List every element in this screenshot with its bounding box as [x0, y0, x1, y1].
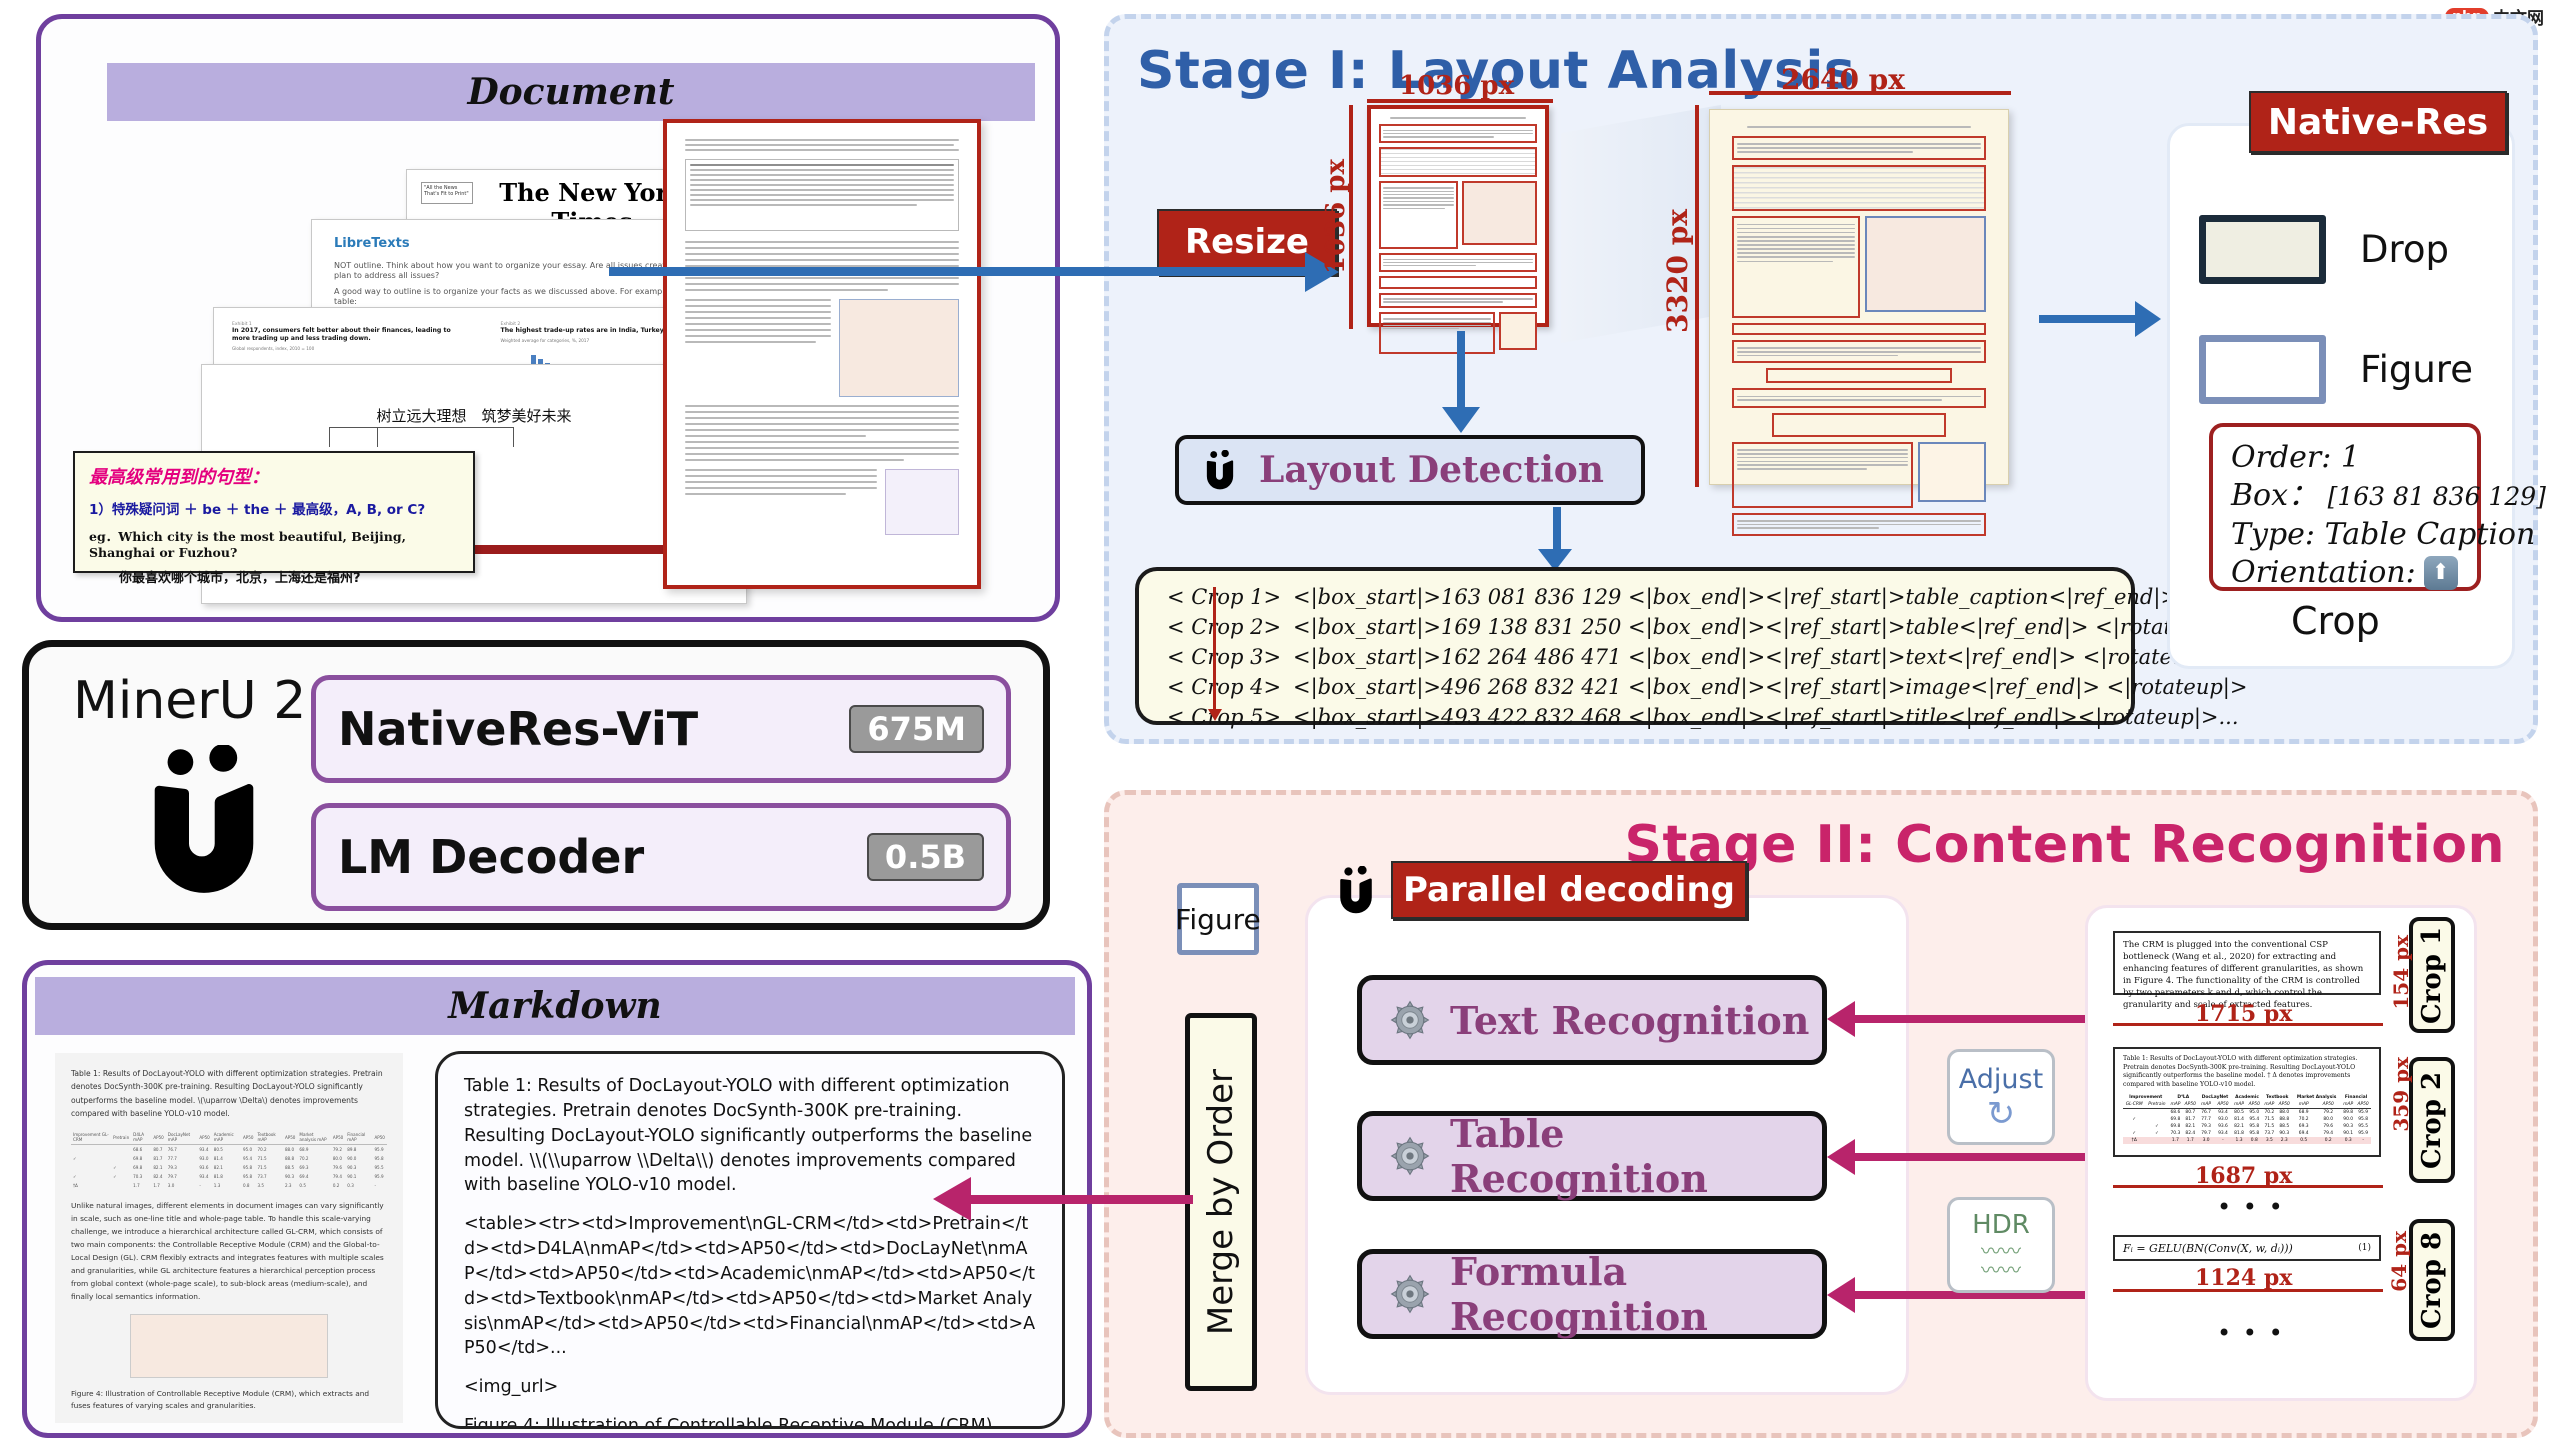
mineru-smiley-u-icon [1199, 450, 1241, 490]
component-label-vit: NativeRes-ViT [338, 702, 698, 756]
doc-thumb-paper-red [663, 119, 981, 589]
task-table-recognition[interactable]: Table Recognition [1357, 1111, 1827, 1201]
model-panel: MinerU 2.5 NativeRes-ViT 675M LM Decoder… [22, 640, 1050, 930]
component-pill-decoder: LM Decoder 0.5B [311, 803, 1011, 911]
merge-by-order-label: Merge by Order [1201, 1069, 1241, 1335]
markdown-source-line-2: <img_url> [464, 1375, 1036, 1400]
crop-8-formula-number: (1) [2358, 1243, 2371, 1253]
document-panel: Document "All the News That's Fit to Pri… [36, 14, 1060, 622]
markdown-title-bar: Markdown [35, 977, 1075, 1035]
doc-thumb-chinese-card: 最高级常用到的句型： 1）特殊疑问词 ＋ be ＋ the ＋ 最高级，A, B… [73, 451, 475, 573]
crop-order-arrow [1213, 587, 1216, 713]
waves-icon: 〰〰〰〰 [1981, 1242, 2021, 1280]
markdown-source-line-1: <table><tr><td>Improvement\nGL-CRM</td><… [464, 1212, 1036, 1361]
native-res-badge: Native-Res [2249, 91, 2507, 153]
arrow-resize-to-detect [1457, 331, 1465, 413]
mineru-smiley-u-icon [139, 745, 269, 895]
crop-order-arrow-head [1208, 709, 1222, 721]
stage1-panel: Stage I: Layout Analysis Resize [1104, 14, 2538, 744]
crop-tag-2: Crop 2 [2409, 1057, 2455, 1183]
arrow-resize-to-detect-head [1442, 407, 1480, 433]
chinese-card-line1: 1）特殊疑问词 ＋ be ＋ the ＋ 最高级，A, B, or C? [89, 498, 459, 518]
crop-1-width-dim-line [2113, 1023, 2383, 1026]
tool-adjust[interactable]: Adjust ↻ [1947, 1049, 2055, 1145]
crop-1-height: 154 px [2389, 935, 2413, 1010]
component-pill-vit: NativeRes-ViT 675M [311, 675, 1011, 783]
gear-icon [1388, 1134, 1432, 1178]
legend-figure: Figure [2199, 335, 2473, 404]
rendered-figure-caption: Figure 4: Illustration of Controllable R… [71, 1388, 387, 1413]
merge-by-order-bar: Merge by Order [1185, 1013, 1257, 1391]
gear-icon [1388, 1272, 1432, 1316]
arrow-crop1-to-text-head [1827, 1001, 1855, 1037]
crop-name-3: < Crop 3> [1167, 645, 1267, 669]
resized-height-dim-line [1349, 105, 1353, 329]
task-formula-recognition-label: Formula Recognition [1450, 1249, 1822, 1339]
layout-detection-button[interactable]: Layout Detection [1175, 435, 1645, 505]
rendered-heading: 4.1 CONTROLLABLE RECEPTIVE MODULE [71, 1421, 387, 1423]
document-panel-title: Document [467, 71, 674, 113]
crop-box-label: Box： [2231, 478, 2318, 513]
layout-detection-label: Layout Detection [1259, 449, 1604, 491]
crop-2-caption: Table 1: Results of DocLayout-YOLO with … [2123, 1055, 2371, 1090]
crop-2-height: 359 px [2389, 1057, 2413, 1132]
native-height-dim-line [1695, 105, 1699, 487]
crop-tokens-card: < Crop 1> <|box_start|>163 081 836 129 <… [1135, 567, 2135, 725]
tool-hdr[interactable]: HDR 〰〰〰〰 [1947, 1197, 2055, 1293]
native-width-dim-line [1709, 91, 2011, 95]
crop-tag-1: Crop 1 [2409, 917, 2455, 1033]
native-page-thumb [1709, 109, 2009, 485]
crop-2-table: ImprovementD⁴LADocLayNetAcademicTextbook… [2123, 1094, 2371, 1144]
arrow-native-to-card [2039, 315, 2139, 323]
chinese-card-line3: 你最喜欢哪个城市，北京，上海还是福州? [89, 567, 459, 586]
crop-order-value: 1 [2341, 440, 2360, 475]
tool-adjust-label: Adjust [1959, 1064, 2043, 1095]
crop-ellipsis-2: • • • [2217, 1319, 2285, 1347]
markdown-source-line-3: Figure 4: Illustration of Controllable R… [464, 1414, 1036, 1429]
figure-chip: Figure [1177, 883, 1259, 955]
chart-left-title: In 2017, consumers felt better about the… [232, 327, 471, 343]
chinese-card-title: 最高级常用到的句型： [89, 463, 459, 489]
crop-tokens-2: <|box_start|>169 138 831 250 <|box_end|>… [1293, 615, 2236, 639]
crop-8-height: 64 px [2387, 1231, 2411, 1292]
crop-tokens-3: <|box_start|>162 264 486 471 <|box_end|>… [1293, 645, 2224, 669]
arrow-merge-to-markdown [969, 1195, 1193, 1204]
stage2-panel: Stage II: Content Recognition Figure Mer… [1104, 790, 2538, 1438]
gear-icon [1388, 998, 1432, 1042]
crop-type-label: Type: [2231, 517, 2315, 552]
legend-drop: Drop [2199, 215, 2449, 284]
mineru-smiley-u-icon [1333, 866, 1379, 914]
crop-8-width: 1124 px [2195, 1265, 2292, 1291]
task-formula-recognition[interactable]: Formula Recognition [1357, 1249, 1827, 1339]
arrow-crop2-to-table-head [1827, 1139, 1855, 1175]
parallel-decoding-badge: Parallel decoding [1333, 861, 1747, 919]
parallel-decoding-label: Parallel decoding [1391, 861, 1747, 919]
resized-width-dim-line [1367, 99, 1553, 103]
markdown-rendered-preview: Table 1: Results of DocLayout-YOLO with … [55, 1053, 403, 1423]
crop-8-width-dim-line [2113, 1289, 2383, 1292]
crop-name-1: < Crop 1> [1167, 585, 1267, 609]
markdown-panel: Markdown Table 1: Results of DocLayout-Y… [22, 960, 1092, 1438]
arrow-merge-to-markdown-head [933, 1177, 971, 1221]
resized-page-thumb [1367, 105, 1549, 327]
task-table-recognition-label: Table Recognition [1450, 1111, 1822, 1201]
chinese-card-line2: eg．Which city is the most beautiful, Bei… [89, 526, 459, 560]
crop-type-value: Table Caption [2325, 517, 2536, 552]
rendered-para: Unlike natural images, different element… [71, 1200, 387, 1304]
markdown-source-card: Table 1: Results of DocLayout-YOLO with … [435, 1051, 1065, 1429]
rendered-table: Improvement GL-CRMPretrainD4LA mAPAP50Do… [71, 1130, 387, 1190]
component-size-decoder: 0.5B [867, 833, 984, 881]
figure-box-swatch [2199, 335, 2326, 404]
task-text-recognition[interactable]: Text Recognition [1357, 975, 1827, 1065]
arrow-native-to-card-head [2135, 301, 2161, 337]
task-text-recognition-label: Text Recognition [1450, 998, 1809, 1043]
crop-2-width-dim-line [2113, 1185, 2383, 1188]
crop-box-value: [163 81 836 129] [2328, 482, 2546, 511]
arrow-crop2-to-table [1853, 1153, 2113, 1161]
nyt-kicker: "All the News That's Fit to Print" [421, 182, 473, 204]
rendered-caption: Table 1: Results of DocLayout-YOLO with … [71, 1067, 387, 1120]
crop-caption: Crop [2291, 599, 2380, 643]
arrow-doc-to-resize [609, 267, 1309, 276]
crop-info-box: Order: 1 Box： [163 81 836 129] Type: Tab… [2209, 423, 2481, 591]
stage2-crop-2-table: Table 1: Results of DocLayout-YOLO with … [2113, 1047, 2381, 1157]
crop-tag-8: Crop 8 [2409, 1219, 2455, 1341]
crop-ellipsis-1: • • • [2217, 1193, 2285, 1221]
stage2-crop-1-text: The CRM is plugged into the conventional… [2113, 931, 2381, 995]
drop-box-swatch [2199, 215, 2326, 284]
crop-tokens-5: <|box_start|>493 422 832 468 <|box_end|>… [1293, 705, 2239, 729]
crop-orientation-label: Orientation: [2231, 554, 2416, 592]
resized-width-label: 1036 px [1399, 71, 1514, 101]
resized-height-label: 1036 px [1321, 159, 1351, 274]
crop-8-formula: Fᵢ = GELU(BN(Conv(X, w, dᵢ))) [2123, 1242, 2293, 1255]
arrow-up-icon: ⬆ [2424, 556, 2458, 590]
legend-figure-label: Figure [2360, 348, 2473, 391]
arrow-crop8-to-formula-head [1827, 1277, 1855, 1313]
crop-name-4: < Crop 4> [1167, 675, 1267, 699]
document-panel-title-bar: Document [107, 63, 1035, 121]
chart-left-sub: Global respondents, index, 2010 = 100 [232, 346, 471, 351]
figure-chip-label: Figure [1175, 903, 1261, 936]
arrow-crop1-to-text [1853, 1015, 2113, 1023]
markdown-panel-title: Markdown [448, 985, 661, 1027]
component-size-vit: 675M [849, 705, 984, 753]
stage2-title: Stage II: Content Recognition [1625, 815, 2505, 875]
crop-token-rows: < Crop 1> <|box_start|>163 081 836 129 <… [1167, 585, 2111, 729]
crop-tokens-4: <|box_start|>496 268 832 421 <|box_end|>… [1293, 675, 2247, 699]
crop-order-label: Order: [2231, 440, 2331, 475]
rotate-ccw-icon: ↻ [1987, 1097, 2016, 1131]
crop-name-2: < Crop 2> [1167, 615, 1267, 639]
tool-hdr-label: HDR [1972, 1210, 2030, 1240]
component-label-decoder: LM Decoder [338, 830, 644, 884]
legend-drop-label: Drop [2360, 228, 2449, 271]
native-height-label: 3320 px [1661, 209, 1694, 333]
stage2-crop-8-formula: Fᵢ = GELU(BN(Conv(X, w, dᵢ))) (1) [2113, 1235, 2381, 1261]
